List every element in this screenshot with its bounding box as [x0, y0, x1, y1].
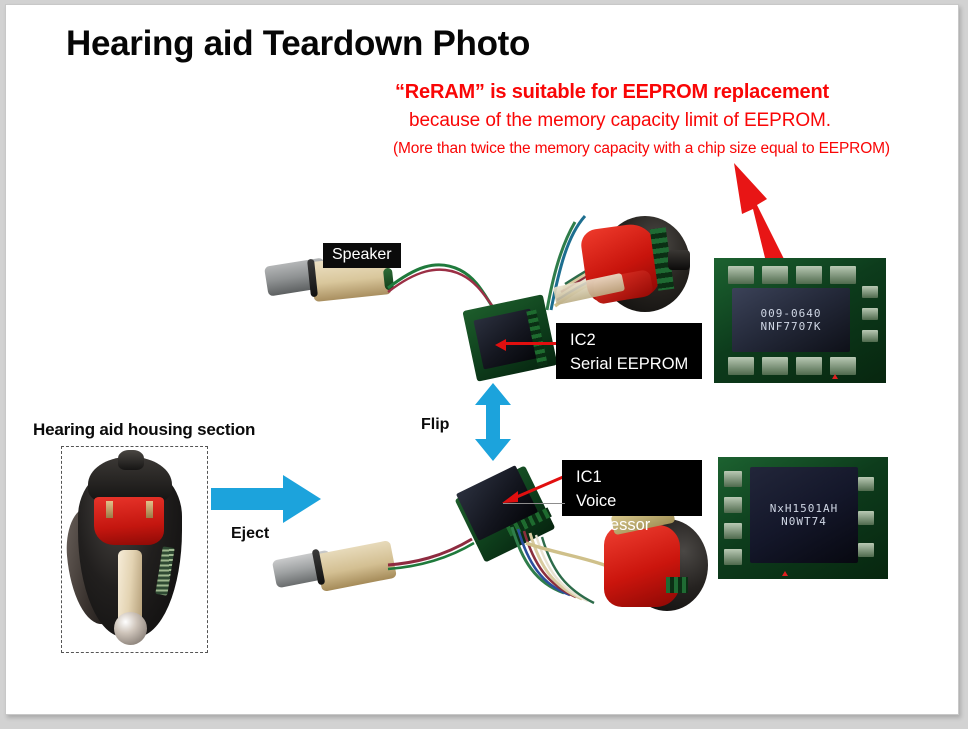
slide-page: Hearing aid Teardown Photo “ReRAM” is su…: [5, 4, 959, 715]
ic1-callout: IC1 Voice Processor: [562, 460, 702, 516]
highlight-line-1: “ReRAM” is suitable for EEPROM replaceme…: [395, 81, 829, 104]
housing-section-title: Hearing aid housing section: [33, 420, 255, 440]
eeprom-marking-line-1: 009-0640: [761, 307, 822, 320]
screenshot-canvas: Hearing aid Teardown Photo “ReRAM” is su…: [0, 0, 968, 729]
voice-marking-line-2: N0WT74: [781, 515, 827, 528]
eeprom-marking-line-2: NNF7707K: [761, 320, 822, 333]
right-margin-rail: [958, 0, 968, 729]
ic1-leader-line: [503, 503, 565, 504]
eeprom-chip-photo: 009-0640 NNF7707K: [714, 258, 886, 383]
ic2-pointer-arrow: [506, 342, 556, 345]
housing-section-photo: [61, 446, 208, 653]
highlight-line-3: (More than twice the memory capacity wit…: [393, 140, 890, 158]
page-title: Hearing aid Teardown Photo: [66, 24, 530, 64]
speaker-wire: [384, 250, 504, 310]
speaker-wire-bottom: [386, 529, 496, 579]
red-emphasis-arrow-icon: [726, 155, 796, 270]
flip-double-arrow-icon: [473, 383, 513, 461]
receiver-module-top: [582, 216, 690, 320]
flip-label: Flip: [421, 416, 449, 434]
speaker-label: Speaker: [323, 243, 401, 268]
eject-arrow-icon: [211, 475, 321, 523]
ic2-callout: IC2 Serial EEPROM: [556, 323, 702, 379]
voice-processor-chip-photo: NxH1501AH N0WT74: [718, 457, 888, 579]
eject-label: Eject: [231, 525, 269, 543]
speaker-body-bottom: [315, 540, 397, 592]
voice-marking-line-1: NxH1501AH: [770, 502, 839, 515]
highlight-line-2: because of the memory capacity limit of …: [409, 110, 831, 132]
